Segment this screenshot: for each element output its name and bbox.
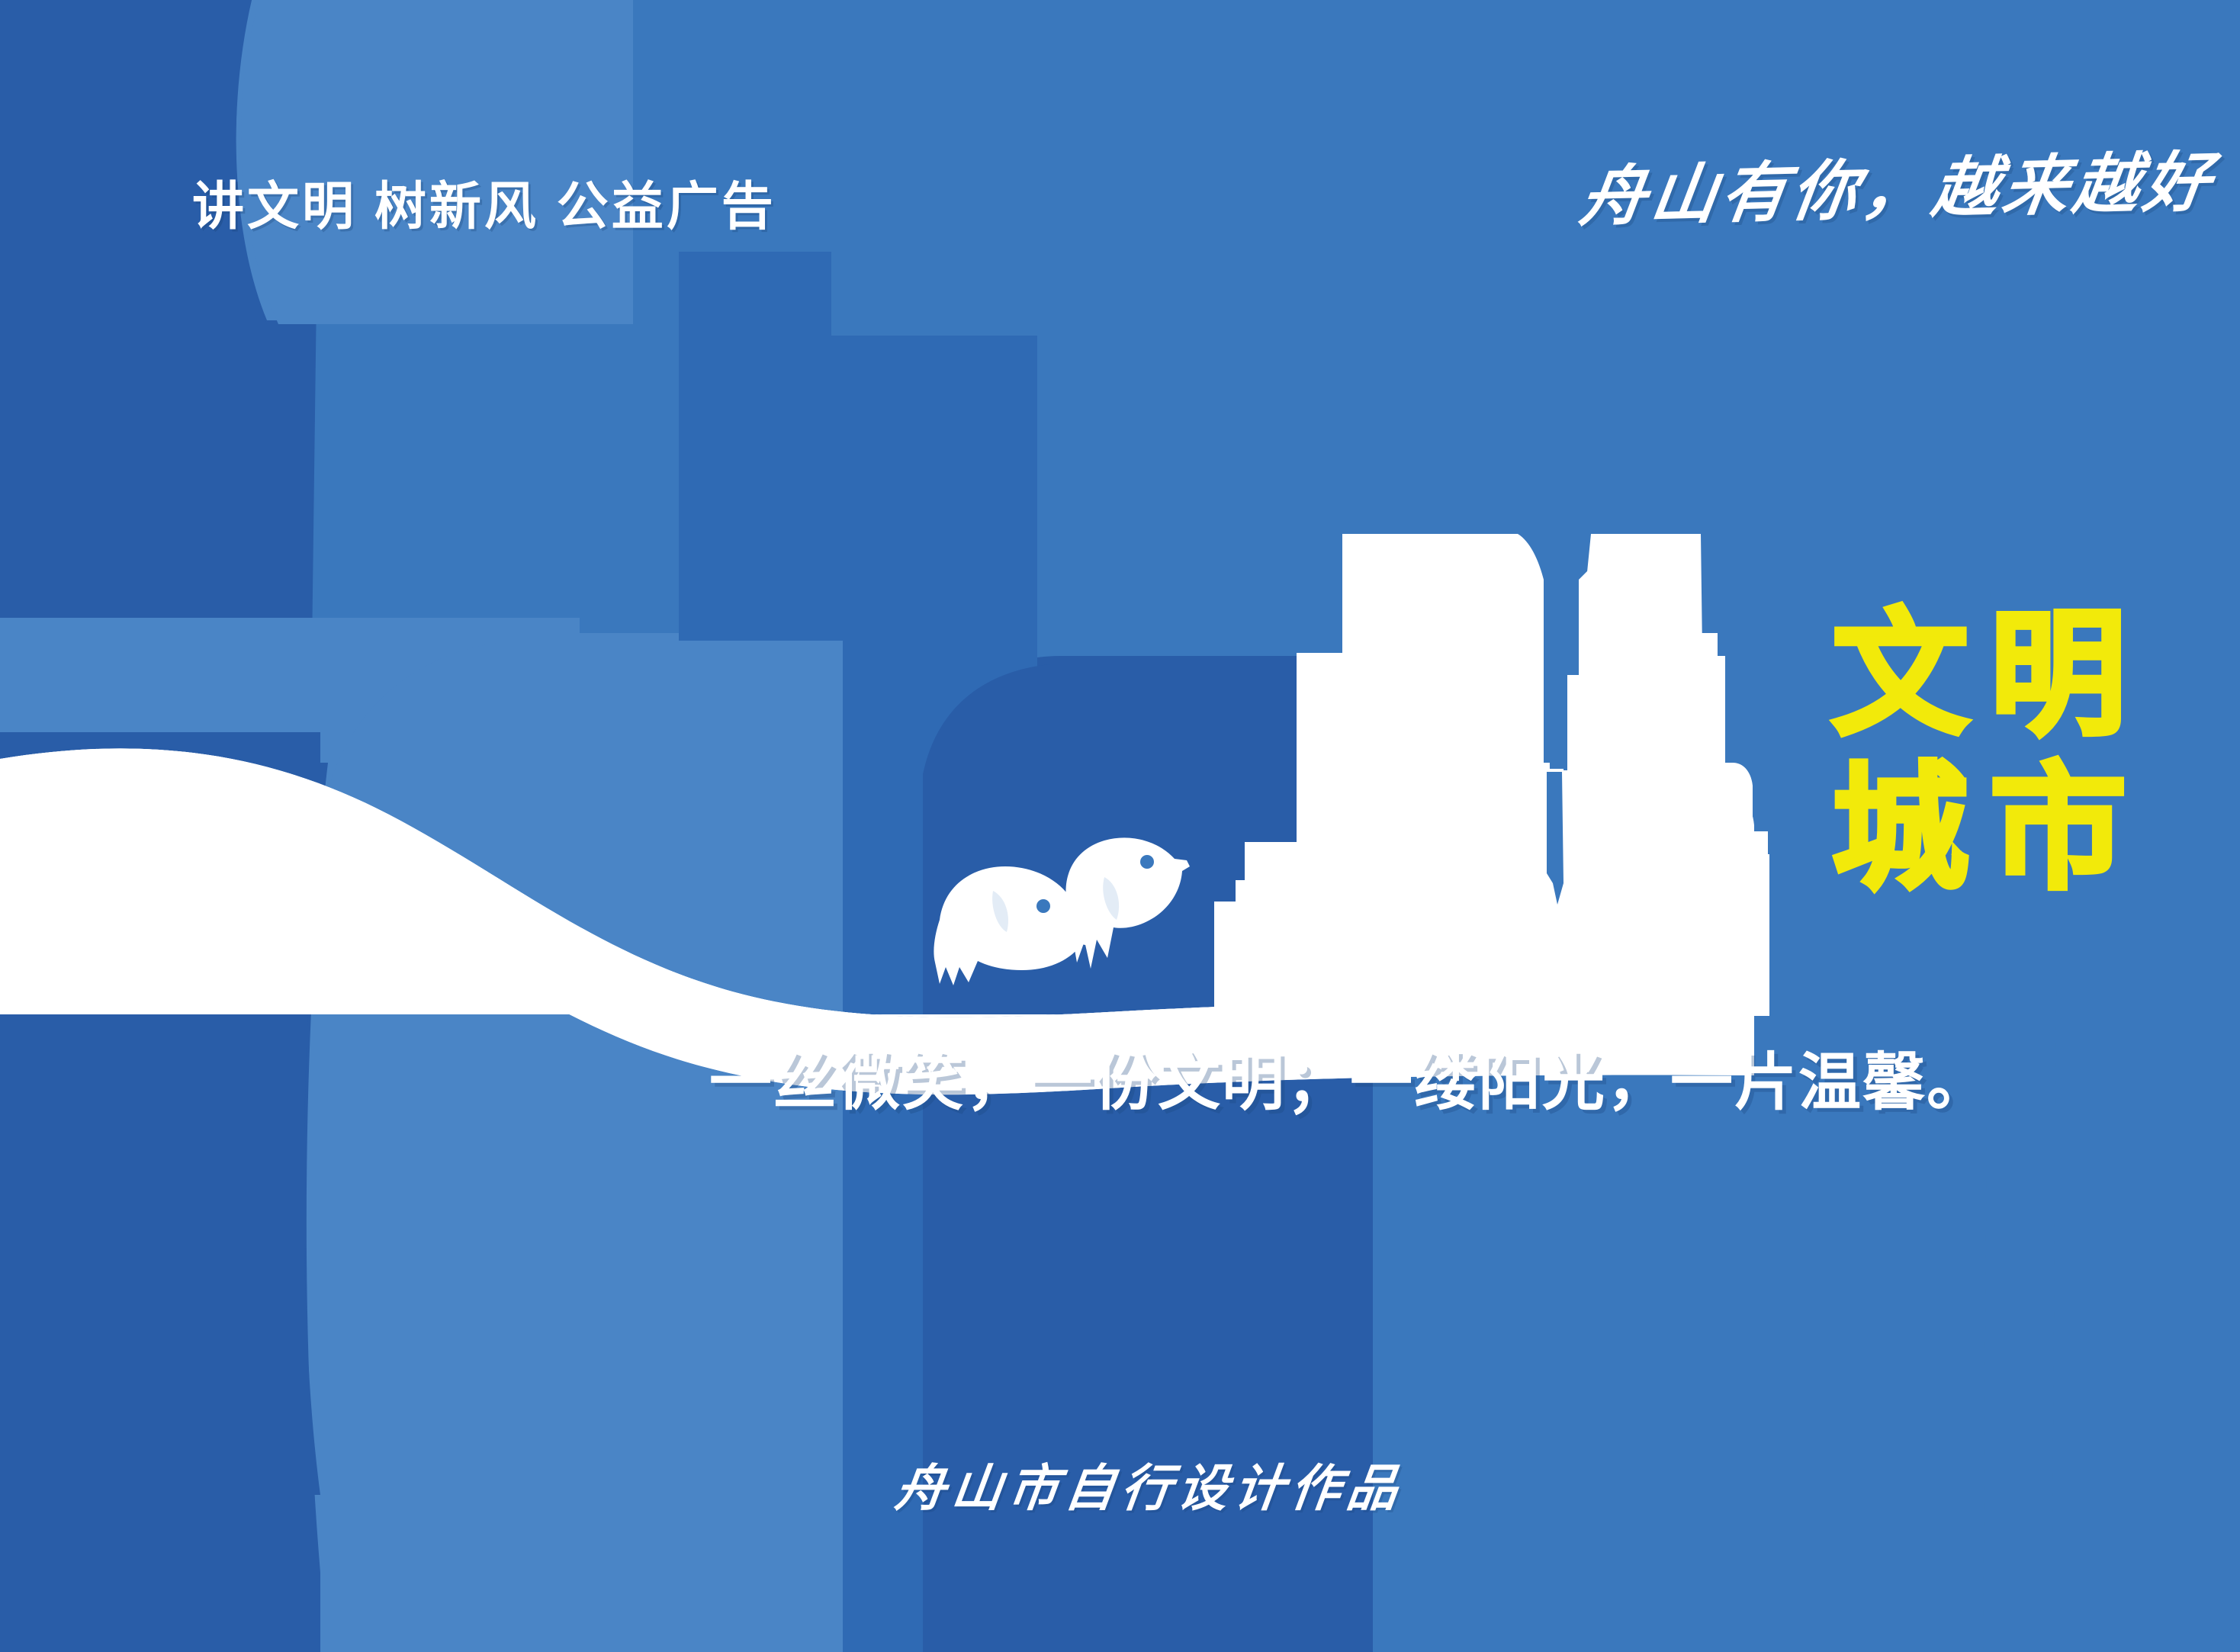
skyline-block-left [1214, 845, 1301, 1016]
skyline-tower-right [1586, 534, 1713, 1016]
public-service-poster: 讲文明 树新风 公益广告 舟山有你，越来越好 文 明 城 市 一丝微笑，一份文明… [0, 0, 2240, 1652]
skyline-gap-column [1567, 675, 1580, 885]
skyline-block-right [1701, 793, 1769, 1016]
fish-right-eye [1140, 855, 1154, 869]
main-title: 文 明 城 市 [1827, 603, 2132, 905]
credit-text: 舟山市自行设计作品 [892, 1448, 1409, 1521]
main-title-char-2: 明 [1985, 603, 2132, 750]
city-skyline-silhouette [1213, 534, 1769, 1016]
tagline-text: 一丝微笑，一份文明；一缕阳光，一片温馨。 [709, 1031, 1991, 1122]
brand-calligraphy-text: 舟山有你，越来越好 [1575, 128, 2222, 239]
campaign-banner-text: 讲文明 树新风 公益广告 [192, 164, 776, 239]
skyline-tower-left-body [1297, 653, 1542, 1016]
fish-silhouette-right [1065, 837, 1190, 969]
main-title-char-3: 城 [1827, 757, 1974, 905]
fish-right-body [1065, 837, 1190, 969]
main-title-char-1: 文 [1827, 603, 1974, 750]
skyline-tower-gap [1544, 534, 1567, 763]
main-title-char-4: 市 [1985, 757, 2132, 905]
fish-left-eye [1036, 899, 1050, 913]
